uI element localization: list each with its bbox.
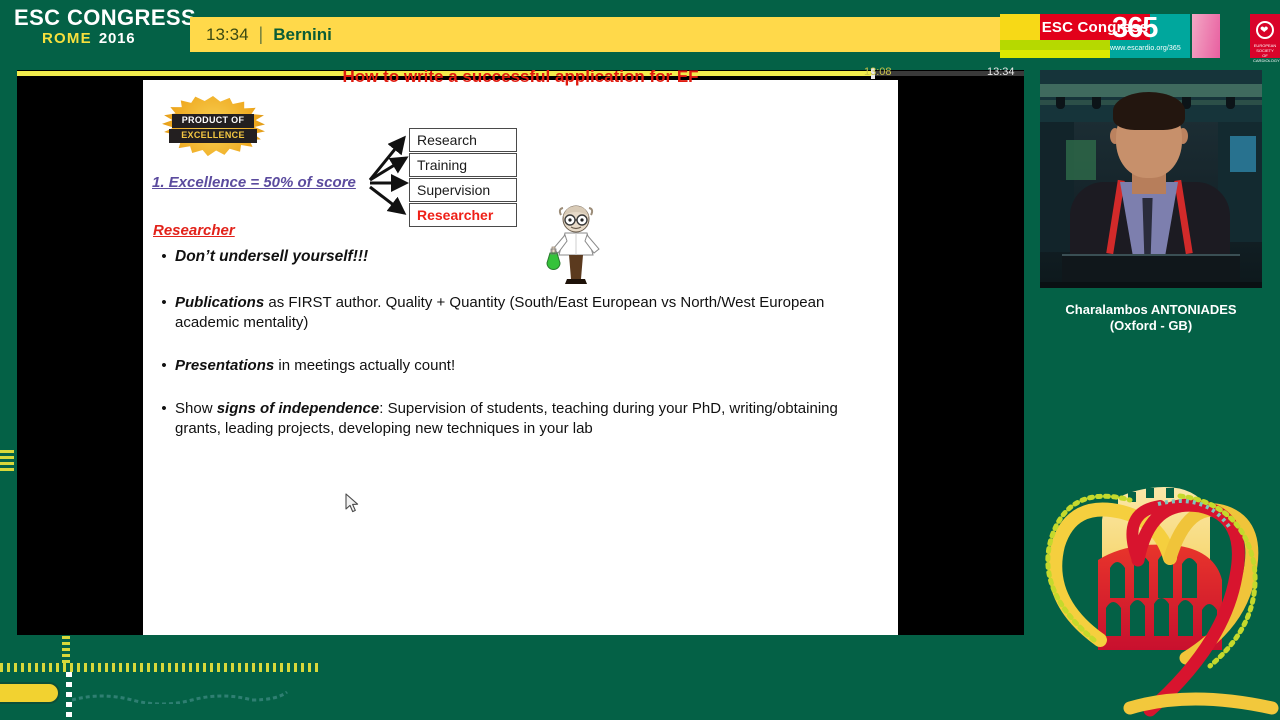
category-box-list: ResearchTrainingSupervisionResearcher — [409, 128, 519, 228]
session-info-bar: 13:34 | Bernini — [190, 17, 1000, 52]
presentation-slide[interactable]: PRODUCT OF EXCELLENCE 1. Excellence = 50… — [143, 80, 898, 635]
category-box: Supervision — [409, 178, 517, 202]
player-total-time: 13:34 — [987, 66, 1015, 78]
session-separator: | — [259, 24, 264, 45]
esc-mark-caption: EUROPEAN SOCIETY OF CARDIOLOGY — [1253, 43, 1277, 63]
video-lamp — [1092, 97, 1101, 109]
rome-colosseum-artwork — [1010, 440, 1280, 720]
brand-subtitle: ROME2016 — [14, 30, 184, 48]
bullet-marker: • — [153, 399, 175, 439]
decoration-yellow-pill — [0, 682, 60, 704]
bullet-item: •Publications as FIRST author. Quality +… — [153, 293, 883, 333]
brand-year: 2016 — [99, 30, 136, 47]
decoration-wave-line — [72, 690, 302, 704]
slide-subheading: Researcher — [153, 222, 883, 239]
logo-pink-gradient — [1192, 14, 1220, 58]
speaker-panel: Charalambos ANTONIADES (Oxford - GB) — [1040, 70, 1262, 334]
esc-society-mark: ❤ EUROPEAN SOCIETY OF CARDIOLOGY — [1250, 14, 1280, 58]
speaker-name: Charalambos ANTONIADES — [1040, 302, 1262, 318]
bullet-text: Publications as FIRST author. Quality + … — [175, 293, 883, 333]
decoration-zigzag-left — [0, 450, 14, 474]
bullet-text: Presentations in meetings actually count… — [175, 356, 455, 376]
decoration-zigzag-bar — [0, 663, 320, 672]
excellence-score-label: 1. Excellence = 50% of score — [152, 174, 356, 191]
bullet-item: •Don’t undersell yourself!!! — [153, 247, 883, 267]
bullet-text: Don’t undersell yourself!!! — [175, 247, 368, 267]
brand-title: ESC CONGRESS — [14, 6, 184, 30]
speaker-hair — [1113, 92, 1185, 130]
badge-line-2: EXCELLENCE — [169, 129, 257, 143]
product-of-excellence-badge: PRODUCT OF EXCELLENCE — [161, 96, 265, 158]
slide-body: Researcher •Don’t undersell yourself!!!•… — [153, 222, 883, 461]
decoration-vertical-dashes — [62, 636, 70, 664]
speaker-video[interactable] — [1040, 70, 1262, 288]
bullet-marker: • — [153, 293, 175, 333]
session-room-name: Bernini — [273, 25, 332, 45]
bullet-marker: • — [153, 247, 175, 267]
speaker-affiliation: (Oxford - GB) — [1040, 318, 1262, 334]
app-root: ESC CONGRESS ROME2016 13:34 | Bernini ES… — [0, 0, 1280, 720]
video-lamp — [1226, 97, 1235, 109]
heart-icon: ❤ — [1260, 26, 1268, 36]
bullet-item: •Presentations in meetings actually coun… — [153, 356, 883, 376]
session-time: 13:34 — [206, 25, 249, 45]
category-box: Training — [409, 153, 517, 177]
logo-url: www.escardio.org/365 — [1110, 45, 1200, 52]
video-screen — [1230, 136, 1256, 172]
logo-365-number: 365 — [1112, 14, 1192, 44]
mouse-cursor — [345, 493, 361, 515]
slide-title: How to write a successful application fo… — [143, 67, 898, 87]
video-green-light — [1066, 140, 1096, 180]
bullet-text: Show signs of independence: Supervision … — [175, 399, 883, 439]
bullet-list: •Don’t undersell yourself!!!•Publication… — [153, 247, 883, 438]
esc-congress-logo: ESC CONGRESS ROME2016 — [14, 6, 184, 54]
page-header: ESC CONGRESS ROME2016 13:34 | Bernini ES… — [0, 0, 1280, 58]
video-lamp — [1056, 97, 1065, 109]
badge-line-1: PRODUCT OF — [172, 114, 254, 128]
esc-congress-365-logo[interactable]: ESC Congress 365 www.escardio.org/365 — [1000, 14, 1220, 58]
video-bottom-edge — [1040, 282, 1262, 288]
brand-city: ROME — [42, 30, 92, 47]
bullet-item: •Show signs of independence: Supervision… — [153, 399, 883, 439]
speaker-name-block: Charalambos ANTONIADES (Oxford - GB) — [1040, 302, 1262, 334]
category-box: Research — [409, 128, 517, 152]
bullet-marker: • — [153, 356, 175, 376]
